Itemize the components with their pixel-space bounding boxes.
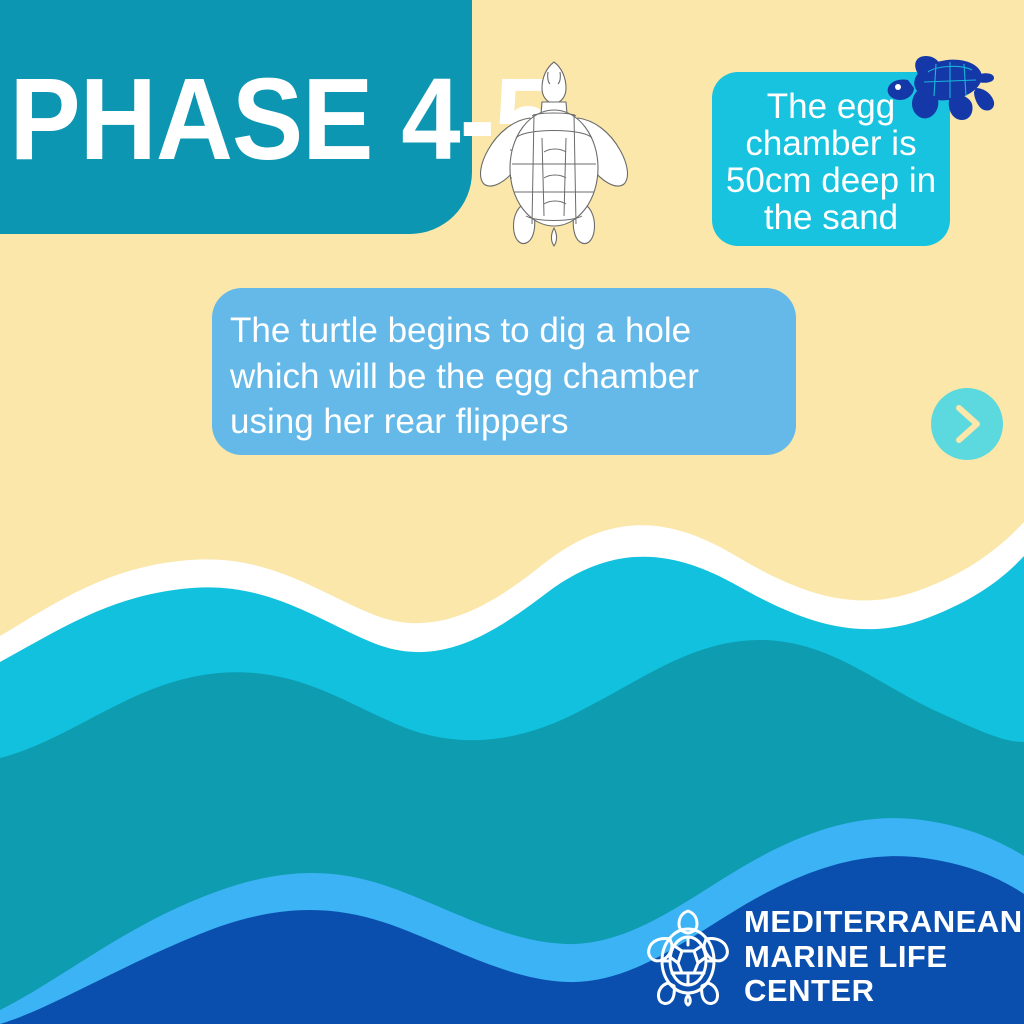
swimming-turtle-icon [884,54,996,136]
logo-line-1: MEDITERRANEAN [744,905,1023,940]
logo-line-2: MARINE LIFE CENTER [744,940,1023,1009]
sea-turtle-top-view-icon [472,58,636,248]
logo-wordmark: MEDITERRANEAN MARINE LIFE CENTER [744,905,1023,1009]
organization-logo: MEDITERRANEAN MARINE LIFE CENTER [646,903,1016,1011]
chevron-right-icon [950,403,984,445]
page-title: PHASE 4-5 [0,37,553,177]
phase-header-banner: PHASE 4-5 [0,0,472,234]
infographic-poster: PHASE 4-5 [0,0,1024,1024]
speech-bubble-digging: The turtle begins to dig a hole which wi… [212,288,796,455]
turtle-outline-logo-icon [646,907,730,1007]
next-button[interactable] [931,388,1003,460]
